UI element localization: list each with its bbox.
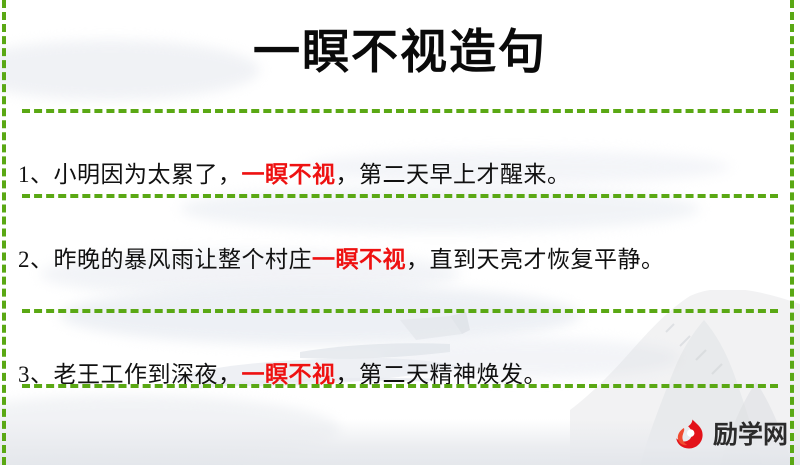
divider-line: [22, 194, 778, 198]
sentence-text-before: 小明因为太累了，: [54, 162, 242, 187]
document-page: 一瞑不视造句 1、小明因为太累了，一瞑不视，第二天早上才醒来。 2、昨晚的暴风雨…: [0, 0, 800, 465]
divider-line: [22, 384, 778, 388]
sentence-index: 1、: [18, 162, 54, 187]
divider-line: [22, 109, 778, 113]
background-wash-shape: [60, 285, 580, 345]
sentence-text-after: ，第二天早上才醒来。: [336, 162, 571, 187]
sentence-text-after: ，直到天亮才恢复平静。: [406, 247, 665, 272]
site-logo[interactable]: 励学网: [672, 417, 788, 451]
sentence-text-before: 昨晚的暴风雨让整个村庄: [54, 247, 313, 272]
background-wash-shape: [0, 395, 340, 465]
example-sentence-2: 2、昨晚的暴风雨让整个村庄一瞑不视，直到天亮才恢复平静。: [18, 239, 770, 280]
logo-text: 励学网: [713, 422, 788, 447]
flame-swirl-icon: [672, 417, 706, 451]
sentence-index: 2、: [18, 247, 54, 272]
frame-border-right: [790, 0, 794, 465]
highlighted-idiom: 一瞑不视: [312, 247, 406, 272]
frame-border-left: [2, 0, 6, 465]
page-title: 一瞑不视造句: [0, 24, 800, 83]
divider-line: [22, 309, 778, 313]
highlighted-idiom: 一瞑不视: [242, 162, 336, 187]
example-sentence-1: 1、小明因为太累了，一瞑不视，第二天早上才醒来。: [18, 154, 770, 195]
example-sentence-3: 3、老王工作到深夜，一瞑不视，第二天精神焕发。: [18, 354, 770, 395]
